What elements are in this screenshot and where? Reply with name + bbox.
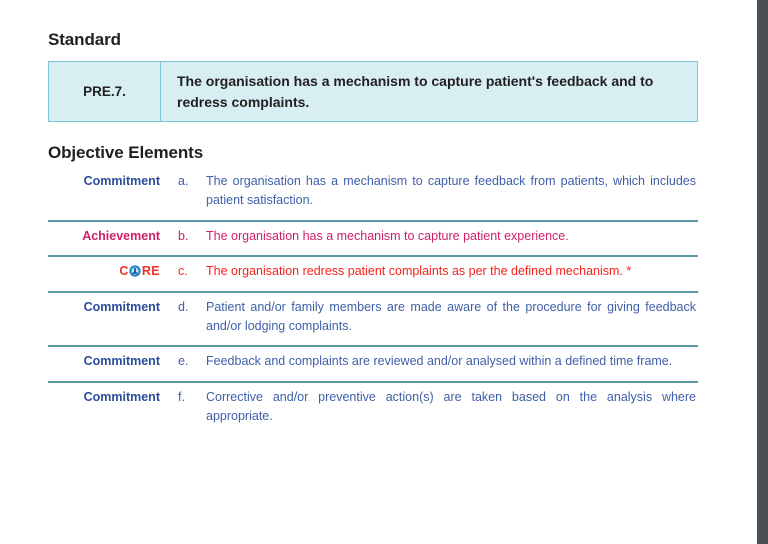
objective-elements-list: Commitmenta.The organisation has a mecha… bbox=[48, 167, 698, 435]
objective-element-text: The organisation redress patient complai… bbox=[206, 262, 698, 281]
right-edge-strip bbox=[757, 0, 768, 544]
objective-element-row: Commitmentd.Patient and/or family member… bbox=[48, 293, 698, 348]
objective-element-label-achievement: Achievement bbox=[48, 227, 174, 246]
objective-element-row: Commitmente.Feedback and complaints are … bbox=[48, 347, 698, 382]
objective-element-row: Achievementb.The organisation has a mech… bbox=[48, 222, 698, 257]
objective-element-label-commitment: Commitment bbox=[48, 388, 174, 407]
objective-element-text: The organisation has a mechanism to capt… bbox=[206, 172, 698, 211]
objective-element-letter: c. bbox=[174, 262, 206, 281]
core-label-suffix: RE bbox=[142, 264, 160, 278]
objective-element-text: Patient and/or family members are made a… bbox=[206, 298, 698, 337]
standard-code-cell: PRE.7. bbox=[49, 62, 161, 121]
objective-element-text: The organisation has a mechanism to capt… bbox=[206, 227, 698, 246]
standard-code: PRE.7. bbox=[83, 84, 126, 99]
document-page: Standard PRE.7. The organisation has a m… bbox=[0, 0, 757, 544]
objective-element-letter: d. bbox=[174, 298, 206, 317]
objective-element-label-commitment: Commitment bbox=[48, 352, 174, 371]
objective-element-letter: e. bbox=[174, 352, 206, 371]
objective-element-letter: a. bbox=[174, 172, 206, 191]
standard-statement-text: The organisation has a mechanism to capt… bbox=[177, 71, 683, 113]
objective-element-label-commitment: Commitment bbox=[48, 172, 174, 191]
objective-element-row: CREc.The organisation redress patient co… bbox=[48, 257, 698, 292]
objective-element-letter: b. bbox=[174, 227, 206, 246]
objective-element-text: Corrective and/or preventive action(s) a… bbox=[206, 388, 698, 427]
objective-element-text: Feedback and complaints are reviewed and… bbox=[206, 352, 698, 371]
objective-element-row: Commitmentf.Corrective and/or preventive… bbox=[48, 383, 698, 436]
standard-text-cell: The organisation has a mechanism to capt… bbox=[161, 62, 697, 121]
standard-section-heading: Standard bbox=[48, 30, 121, 50]
objective-element-row: Commitmenta.The organisation has a mecha… bbox=[48, 167, 698, 222]
standard-statement-box: PRE.7. The organisation has a mechanism … bbox=[48, 61, 698, 122]
objective-elements-section-heading: Objective Elements bbox=[48, 143, 203, 163]
objective-element-letter: f. bbox=[174, 388, 206, 407]
objective-element-label-core: CRE bbox=[48, 262, 174, 281]
core-emblem-icon bbox=[129, 265, 141, 277]
core-label-prefix: C bbox=[119, 264, 128, 278]
objective-element-label-commitment: Commitment bbox=[48, 298, 174, 317]
